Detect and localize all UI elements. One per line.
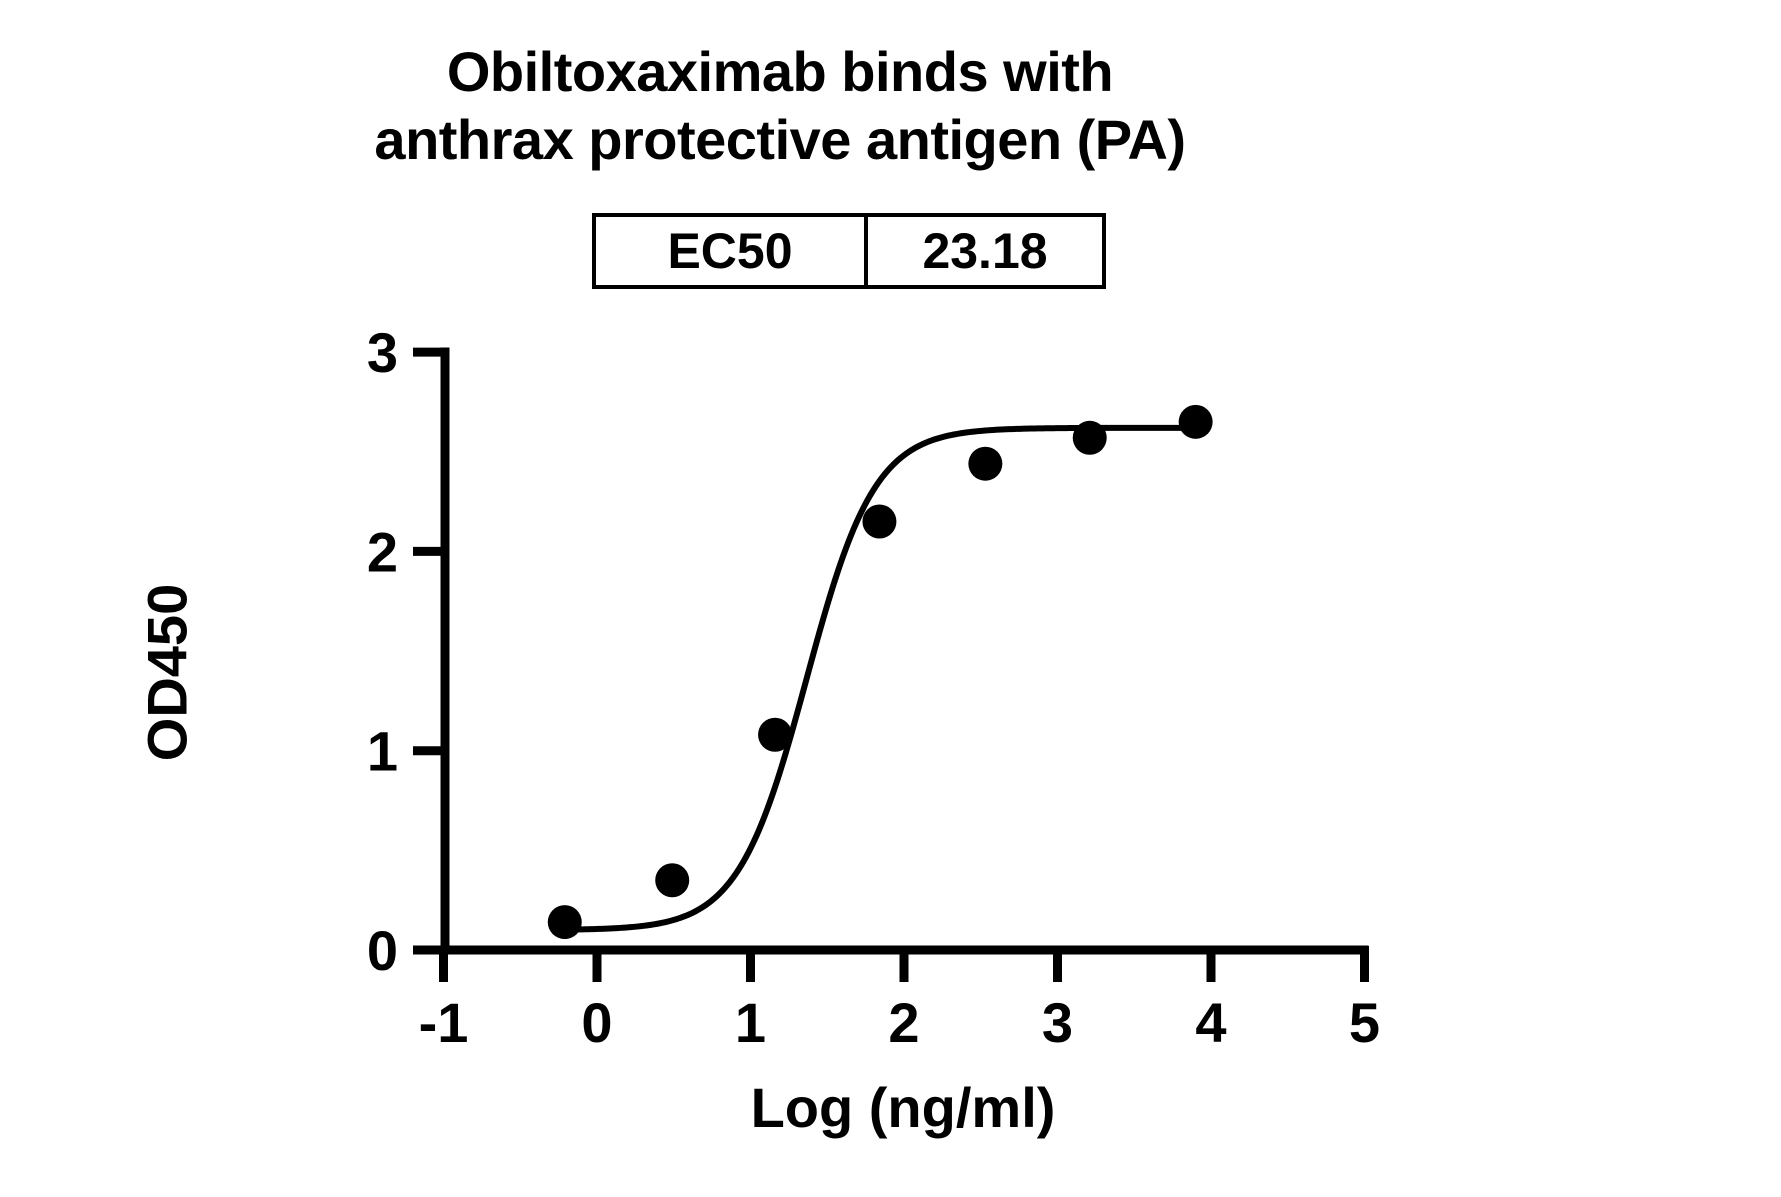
data-point	[655, 863, 689, 897]
data-point	[758, 718, 792, 752]
y-tick-label: 3	[367, 321, 398, 384]
data-point	[968, 447, 1002, 481]
plot-area: 0123 -1012345	[0, 0, 1781, 1197]
y-tick-label: 0	[367, 919, 398, 982]
y-tick-label: 2	[367, 520, 398, 583]
x-tick-label: 3	[1042, 991, 1073, 1054]
chart-figure: Obiltoxaximab binds with anthrax protect…	[0, 0, 1781, 1197]
x-tick-label: -1	[419, 991, 469, 1054]
axes-group	[442, 352, 1364, 950]
y-tick-group: 0123	[367, 321, 449, 982]
data-point	[862, 505, 896, 539]
data-point	[1179, 405, 1213, 439]
x-tick-label: 1	[735, 991, 766, 1054]
x-tick-label: 0	[581, 991, 612, 1054]
x-tick-label: 4	[1195, 991, 1226, 1054]
data-point	[1073, 421, 1107, 455]
data-point	[548, 905, 582, 939]
x-tick-label: 2	[888, 991, 919, 1054]
x-tick-group: -1012345	[419, 946, 1380, 1054]
y-tick-label: 1	[367, 720, 398, 783]
chart-svg: 0123 -1012345	[0, 0, 1781, 1197]
fit-curve-path	[565, 428, 1196, 930]
x-tick-label: 5	[1349, 991, 1380, 1054]
x-axis-label: Log (ng/ml)	[442, 1075, 1364, 1140]
y-axis-label: OD450	[135, 473, 200, 873]
